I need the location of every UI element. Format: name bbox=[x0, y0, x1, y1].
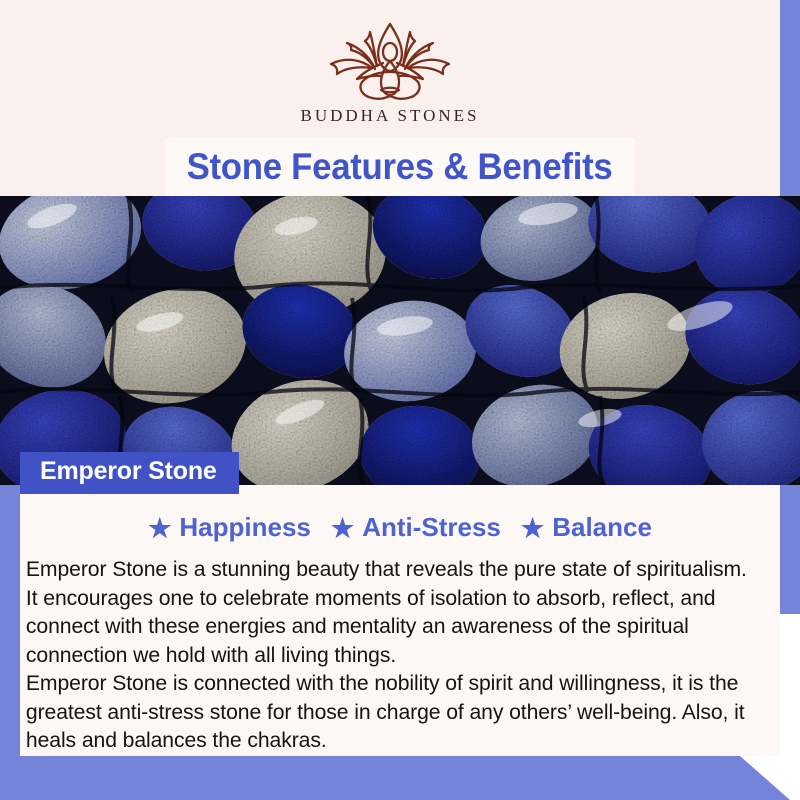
star-icon: ★ bbox=[148, 515, 171, 541]
page-title: Stone Features & Benefits bbox=[187, 146, 613, 188]
benefit-happiness: ★ Happiness bbox=[148, 512, 311, 543]
product-infographic: BUDDHA STONES Stone Features & Benefits bbox=[0, 0, 800, 800]
description-paragraph-1: Emperor Stone is a stunning beauty that … bbox=[26, 555, 763, 669]
benefit-balance: ★ Balance bbox=[521, 512, 652, 543]
benefits-row: ★ Happiness ★ Anti-Stress ★ Balance bbox=[20, 512, 780, 543]
benefit-label: Happiness bbox=[179, 512, 311, 543]
description-panel: ★ Happiness ★ Anti-Stress ★ Balance Empe… bbox=[20, 485, 780, 756]
brand-name: BUDDHA STONES bbox=[301, 106, 480, 126]
benefit-label: Balance bbox=[552, 512, 652, 543]
star-icon: ★ bbox=[521, 515, 544, 541]
decorative-bottom-band bbox=[0, 756, 800, 800]
description-text: Emperor Stone is a stunning beauty that … bbox=[20, 555, 769, 755]
brand-logo: BUDDHA STONES bbox=[0, 16, 780, 126]
page-title-plate: Stone Features & Benefits bbox=[165, 138, 635, 196]
star-icon: ★ bbox=[331, 515, 354, 541]
description-paragraph-2: Emperor Stone is connected with the nobi… bbox=[26, 669, 763, 755]
lotus-meditation-icon bbox=[315, 16, 465, 104]
benefit-label: Anti-Stress bbox=[362, 512, 501, 543]
stone-name-badge: Emperor Stone bbox=[20, 452, 239, 494]
stone-photo bbox=[0, 196, 800, 485]
benefit-anti-stress: ★ Anti-Stress bbox=[331, 512, 501, 543]
